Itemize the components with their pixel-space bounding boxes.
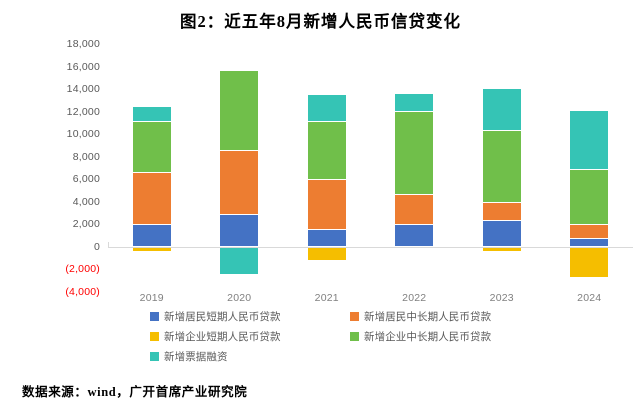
- bar-segment[interactable]: [308, 180, 346, 229]
- legend-swatch-icon: [150, 352, 159, 361]
- legend-label: 新增企业短期人民币贷款: [164, 329, 281, 344]
- chart-figure: 图2：近五年8月新增人民币信贷变化 18,00016,00014,00012,0…: [0, 0, 641, 409]
- bar-segment[interactable]: [308, 122, 346, 180]
- bar-group-container: [108, 44, 633, 292]
- legend-item[interactable]: 新增企业短期人民币贷款: [150, 329, 350, 344]
- bar-segment[interactable]: [483, 221, 521, 246]
- legend-item[interactable]: 新增居民中长期人民币贷款: [350, 309, 550, 324]
- legend-swatch-icon: [150, 312, 159, 321]
- bar-segment[interactable]: [395, 94, 433, 111]
- y-axis-tick: 12,000: [67, 106, 100, 118]
- y-axis-tick: 6,000: [73, 173, 100, 185]
- bar-segment[interactable]: [220, 215, 258, 246]
- bar-segment[interactable]: [308, 95, 346, 121]
- bar-segment[interactable]: [570, 111, 608, 170]
- plot-wrapper: 18,00016,00014,00012,00010,0008,0006,000…: [0, 44, 641, 292]
- y-axis-tick: 0: [94, 241, 100, 253]
- legend-row: 新增企业短期人民币贷款新增企业中长期人民币贷款: [150, 326, 570, 346]
- bar-segment[interactable]: [483, 248, 521, 252]
- legend-row: 新增票据融资: [150, 346, 570, 366]
- bar-segment[interactable]: [308, 248, 346, 261]
- bar-segment[interactable]: [308, 230, 346, 246]
- legend-label: 新增居民短期人民币贷款: [164, 309, 281, 324]
- legend-item[interactable]: 新增票据融资: [150, 349, 350, 364]
- bar-group[interactable]: [196, 44, 284, 292]
- legend-label: 新增企业中长期人民币贷款: [364, 329, 491, 344]
- bar-group[interactable]: [371, 44, 459, 292]
- legend-swatch-icon: [350, 332, 359, 341]
- source-note: 数据来源：wind，广开首席产业研究院: [22, 381, 247, 400]
- bar-group[interactable]: [458, 44, 546, 292]
- y-axis-tick: (2,000): [65, 263, 100, 275]
- y-axis-tick: 16,000: [67, 61, 100, 73]
- bar-segment[interactable]: [483, 203, 521, 220]
- y-axis: 18,00016,00014,00012,00010,0008,0006,000…: [0, 44, 108, 292]
- legend-label: 新增票据融资: [164, 349, 228, 364]
- bar-segment[interactable]: [570, 170, 608, 224]
- bar-segment[interactable]: [395, 195, 433, 224]
- chart-legend: 新增居民短期人民币贷款新增居民中长期人民币贷款新增企业短期人民币贷款新增企业中长…: [150, 306, 570, 366]
- bar-segment[interactable]: [220, 248, 258, 274]
- bar-segment[interactable]: [133, 173, 171, 225]
- legend-item[interactable]: 新增企业中长期人民币贷款: [350, 329, 550, 344]
- bar-segment[interactable]: [395, 112, 433, 194]
- y-axis-tick: 18,000: [67, 38, 100, 50]
- bar-segment[interactable]: [570, 248, 608, 277]
- y-axis-tick: 14,000: [67, 83, 100, 95]
- bar-group[interactable]: [108, 44, 196, 292]
- bar-segment[interactable]: [133, 225, 171, 245]
- y-axis-tick: 10,000: [67, 128, 100, 140]
- bar-segment[interactable]: [570, 225, 608, 238]
- legend-row: 新增居民短期人民币贷款新增居民中长期人民币贷款: [150, 306, 570, 326]
- legend-label: 新增居民中长期人民币贷款: [364, 309, 491, 324]
- bar-segment[interactable]: [483, 89, 521, 130]
- legend-item[interactable]: 新增居民短期人民币贷款: [150, 309, 350, 324]
- legend-swatch-icon: [150, 332, 159, 341]
- bar-group[interactable]: [546, 44, 634, 292]
- legend-swatch-icon: [350, 312, 359, 321]
- bar-segment[interactable]: [133, 248, 171, 252]
- plot-area: [108, 44, 633, 292]
- y-axis-tick: 8,000: [73, 151, 100, 163]
- y-axis-stub-tick: [108, 242, 109, 248]
- bar-segment[interactable]: [220, 151, 258, 214]
- bar-group[interactable]: [283, 44, 371, 292]
- bar-segment[interactable]: [133, 107, 171, 121]
- bar-segment[interactable]: [570, 239, 608, 246]
- y-axis-tick: 4,000: [73, 196, 100, 208]
- y-axis-tick: (4,000): [65, 286, 100, 298]
- bar-segment[interactable]: [133, 122, 171, 172]
- chart-title: 图2：近五年8月新增人民币信贷变化: [0, 8, 641, 32]
- bar-segment[interactable]: [220, 71, 258, 150]
- bar-segment[interactable]: [483, 131, 521, 202]
- bar-segment[interactable]: [395, 225, 433, 245]
- y-axis-tick: 2,000: [73, 218, 100, 230]
